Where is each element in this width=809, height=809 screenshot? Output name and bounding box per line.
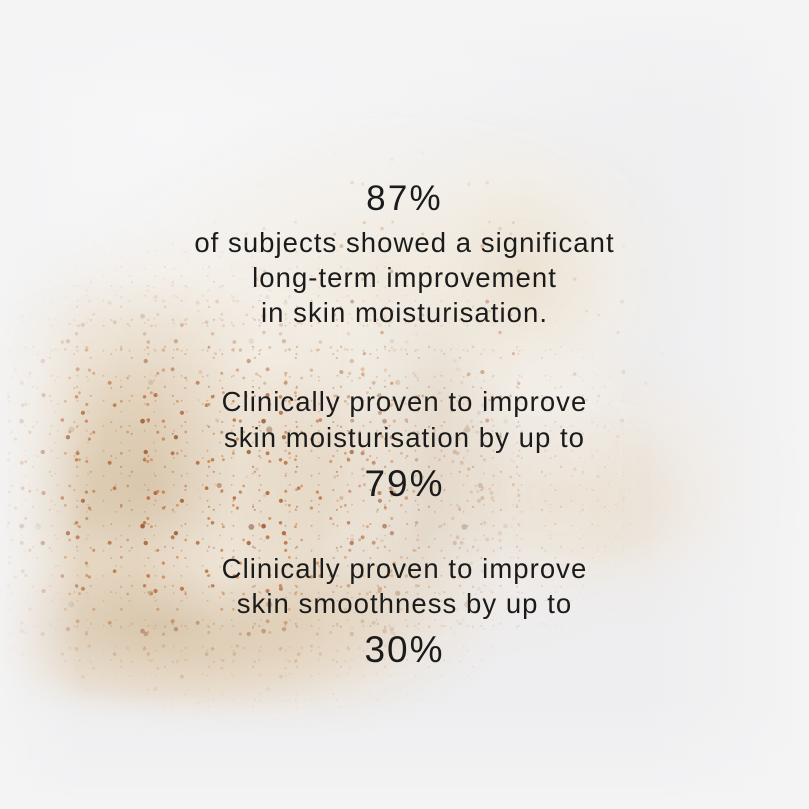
claim-line-2b: skin moisturisation by up to (0, 420, 809, 455)
claim-block-moisturisation-long-term: 87% of subjects showed a significant lon… (0, 180, 809, 330)
claims-copy: 87% of subjects showed a significant lon… (0, 0, 809, 809)
claim-line-1a: of subjects showed a significant (0, 225, 809, 260)
claim-line-1c: in skin moisturisation. (0, 295, 809, 330)
claim-stat-30: 30% (0, 630, 809, 670)
claim-block-smoothness-uplift: Clinically proven to improve skin smooth… (0, 551, 809, 670)
claim-block-moisturisation-uplift: Clinically proven to improve skin moistu… (0, 384, 809, 503)
claim-stat-79: 79% (0, 464, 809, 504)
claim-line-1b: long-term improvement (0, 260, 809, 295)
claim-stat-87: 87% (0, 180, 809, 218)
claim-card-canvas: 87% of subjects showed a significant lon… (0, 0, 809, 809)
claim-line-3b: skin smoothness by up to (0, 586, 809, 621)
claim-line-2a: Clinically proven to improve (0, 384, 809, 419)
claim-line-3a: Clinically proven to improve (0, 551, 809, 586)
